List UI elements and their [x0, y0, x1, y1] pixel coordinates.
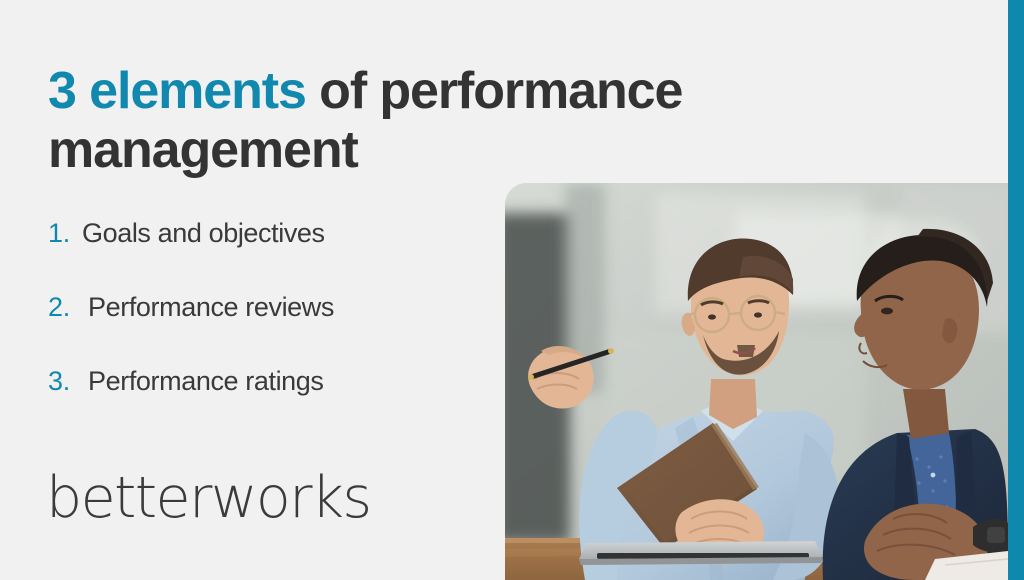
hero-photo [505, 183, 1008, 580]
list-item: 3. Performance ratings [48, 366, 478, 440]
list-item-number: 1. [48, 218, 82, 249]
list-item-label: Goals and objectives [82, 218, 325, 249]
hero-photo-illustration [505, 183, 1008, 580]
list-item: 1. Goals and objectives [48, 218, 478, 292]
betterworks-logo: betterworks [46, 466, 370, 530]
list-item-label: Performance reviews [88, 292, 334, 323]
elements-list: 1. Goals and objectives 2. Performance r… [48, 218, 478, 440]
list-item: 2. Performance reviews [48, 292, 478, 366]
slide-canvas: 3 elements of performance management 1. … [0, 0, 1024, 580]
betterworks-wordmark: betterworks [46, 466, 370, 530]
accent-bar [1008, 0, 1024, 580]
list-item-number: 2. [48, 292, 88, 323]
page-title-accent: 3 elements [48, 62, 306, 120]
list-item-number: 3. [48, 366, 88, 397]
list-item-label: Performance ratings [88, 366, 324, 397]
page-title: 3 elements of performance management [48, 62, 808, 180]
